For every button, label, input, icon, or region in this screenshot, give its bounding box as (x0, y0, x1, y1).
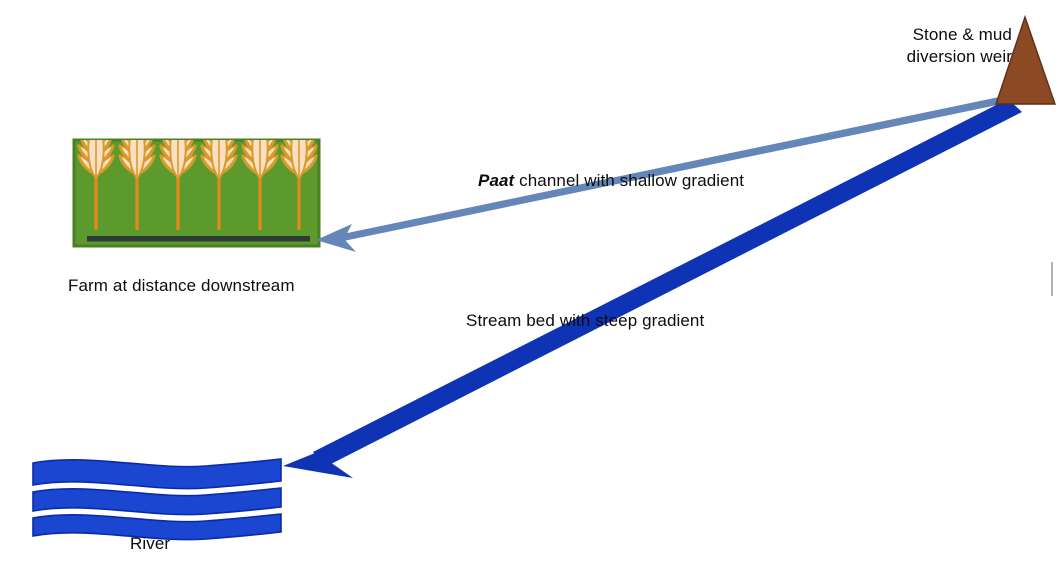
label-diversion-weir-line2: diversion weir (880, 46, 1012, 68)
stream-bed-arrow (283, 99, 1022, 478)
river-band (33, 488, 281, 515)
farm-field (74, 120, 319, 246)
diagram-canvas: Stone & mud diversion weir Paat channel … (0, 0, 1064, 562)
stream-arrow-head (283, 440, 353, 478)
label-diversion-weir: Stone & mud diversion weir (880, 24, 1012, 68)
stream-arrow-shaft (313, 99, 1022, 467)
label-diversion-weir-line1: Stone & mud (880, 24, 1012, 46)
label-paat-channel: Paat channel with shallow gradient (478, 170, 744, 192)
river-band (33, 459, 281, 489)
label-paat-emphasis: Paat (478, 171, 514, 190)
label-river: River (130, 533, 170, 555)
label-paat-rest: channel with shallow gradient (514, 171, 744, 190)
field-channel-line (87, 236, 310, 242)
label-stream-bed: Stream bed with steep gradient (466, 310, 704, 332)
label-farm: Farm at distance downstream (68, 275, 295, 297)
river-graphic (33, 459, 281, 540)
right-edge-artifact (1051, 262, 1053, 296)
